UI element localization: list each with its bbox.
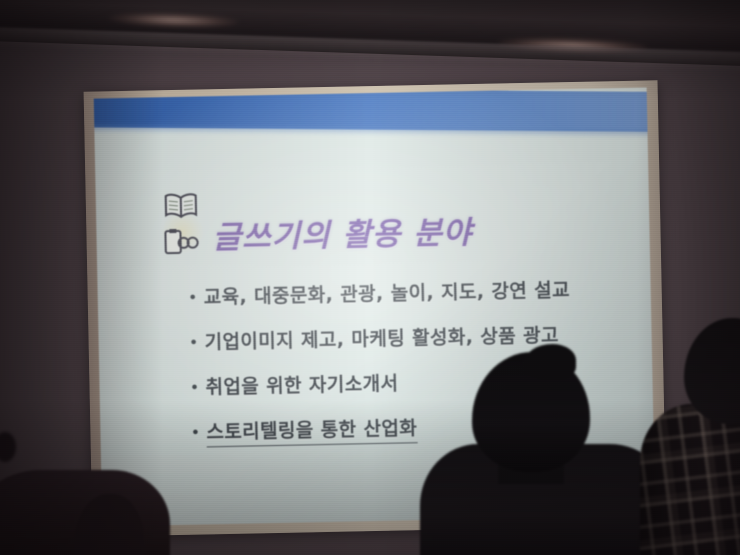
silhouette-hair [524,344,576,380]
open-book-icon [164,193,199,225]
list-item: • 교육, 대중문화, 관광, 놀이, 지도, 강연 설교 [189,276,619,311]
list-item-label: 취업을 위한 자기소개서 [205,371,398,401]
bullet-marker-icon: • [189,284,204,310]
clipboard-glasses-icon [162,227,199,261]
silhouette-shoulders [640,404,740,555]
center-audience-silhouette [420,352,670,555]
list-item-label: 교육, 대중문화, 관광, 놀이, 지도, 강연 설교 [203,277,570,310]
silhouette-shading [640,404,740,555]
slide-title-row: 글쓰기의 활용 분야 [160,187,473,257]
list-item-label: 스토리텔링을 통한 산업화 [206,415,417,447]
right-audience-silhouette [636,330,740,555]
photo-scene: 글쓰기의 활용 분야 • 교육, 대중문화, 관광, 놀이, 지도, 강연 설교… [0,0,740,555]
bullet-marker-icon: • [191,374,206,400]
bullet-marker-icon: • [190,329,205,355]
slide-title: 글쓰기의 활용 분야 [212,218,472,256]
slide-title-icons [160,192,209,257]
left-audience-silhouette [0,470,170,555]
ceiling-light-reflection [108,11,238,29]
list-item-label: 기업이미지 제고, 마케팅 활성화, 상품 광고 [204,322,559,355]
bullet-marker-icon: • [192,419,207,445]
